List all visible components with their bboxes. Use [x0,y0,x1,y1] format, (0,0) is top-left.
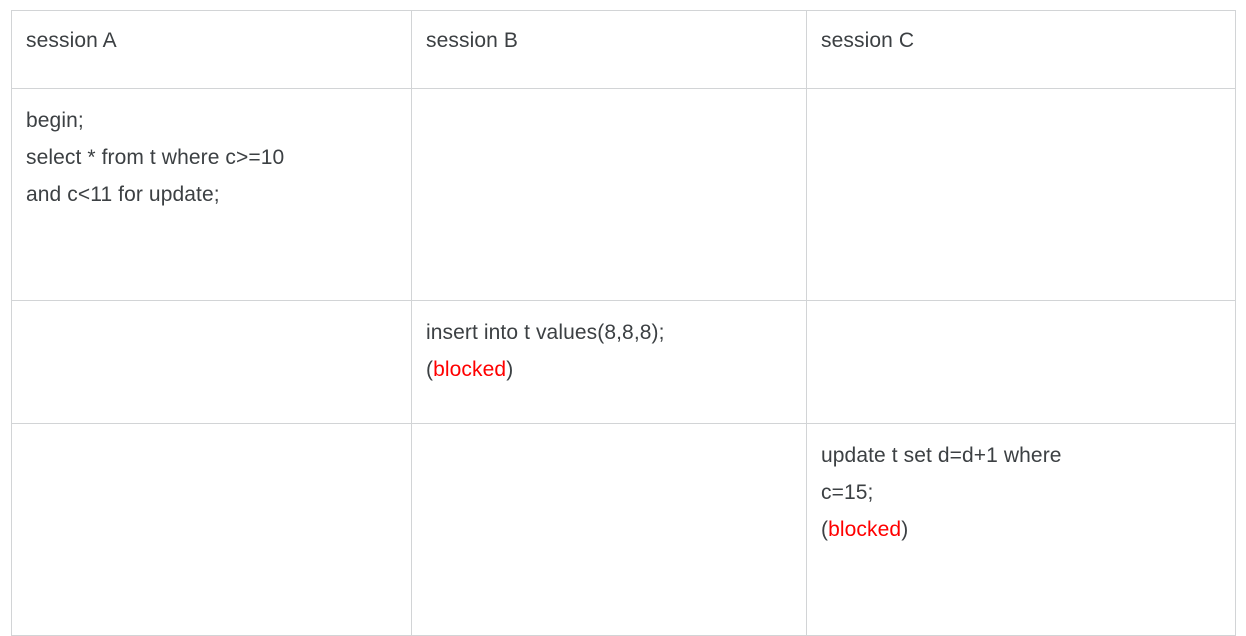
cell-row2-session-b: insert into t values(8,8,8); (blocked) [412,301,807,424]
column-header-session-c-label: session C [821,22,1221,59]
close-paren: ) [901,518,908,541]
table-row: update t set d=d+1 where c=15; (blocked) [12,424,1236,636]
cell-row1-session-b [412,89,807,301]
blocked-status-label: blocked [433,358,506,381]
table-head: session A session B session C [12,11,1236,89]
page-root: session A session B session C begin; sel… [0,0,1246,550]
table-row: begin; select * from t where c>=10 and c… [12,89,1236,301]
blocked-status-label: blocked [828,518,901,541]
sql-statement-block: begin; select * from t where c>=10 and c… [26,102,397,213]
table-row: insert into t values(8,8,8); (blocked) [12,301,1236,424]
close-paren: ) [506,358,513,381]
empty-cell-content [821,314,1221,315]
empty-cell-content [26,437,397,438]
empty-cell-content [821,102,1221,103]
status-badge: (blocked) [821,511,1221,548]
empty-cell-content [426,437,792,438]
sql-line: and c<11 for update; [26,176,397,213]
empty-cell-content [426,102,792,103]
column-header-session-b-label: session B [426,22,792,59]
cell-row1-session-a: begin; select * from t where c>=10 and c… [12,89,412,301]
column-header-session-a-label: session A [26,22,397,59]
empty-cell-content [26,314,397,315]
column-header-session-c: session C [807,11,1236,89]
sql-line: c=15; [821,474,1221,511]
cell-row3-session-b [412,424,807,636]
sql-line: begin; [26,102,397,139]
sql-statement-block: insert into t values(8,8,8); (blocked) [426,314,792,388]
cell-row1-session-c [807,89,1236,301]
sql-statement-block: update t set d=d+1 where c=15; (blocked) [821,437,1221,548]
session-comparison-table: session A session B session C begin; sel… [11,10,1236,636]
cell-row2-session-c [807,301,1236,424]
sql-line: select * from t where c>=10 [26,139,397,176]
table-body: begin; select * from t where c>=10 and c… [12,89,1236,636]
column-header-session-b: session B [412,11,807,89]
cell-row3-session-a [12,424,412,636]
sql-line: update t set d=d+1 where [821,437,1221,474]
sql-line: insert into t values(8,8,8); [426,314,792,351]
cell-row3-session-c: update t set d=d+1 where c=15; (blocked) [807,424,1236,636]
table-header-row: session A session B session C [12,11,1236,89]
column-header-session-a: session A [12,11,412,89]
status-badge: (blocked) [426,351,792,388]
cell-row2-session-a [12,301,412,424]
